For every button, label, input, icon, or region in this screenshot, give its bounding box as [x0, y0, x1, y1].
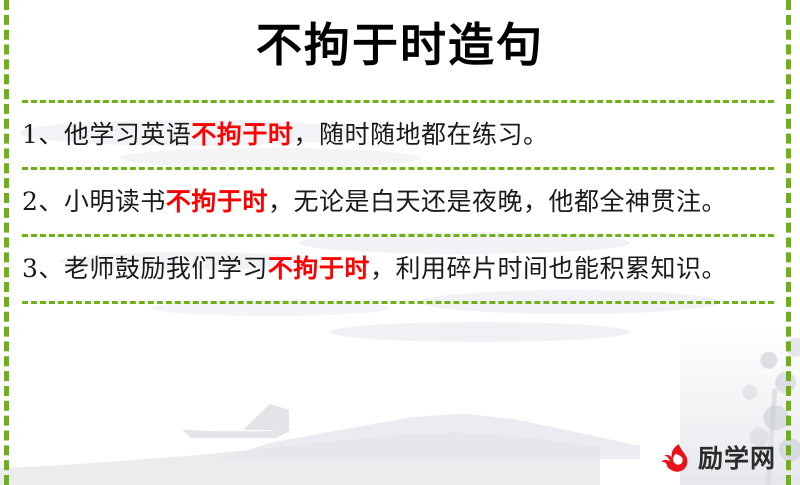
mountain-ridge-shape — [220, 405, 640, 459]
flame-swirl-icon — [657, 441, 691, 475]
sentence-index: 3、 — [22, 254, 64, 283]
keyword-highlight: 不拘于时 — [191, 120, 293, 149]
mountain-ridge-shape — [0, 405, 600, 485]
cloud-wash-shape — [330, 322, 630, 342]
list-item: 2、小明读书不拘于时，无论是白天还是夜晚，他都全神贯注。 — [22, 170, 774, 234]
sentence-before: 老师鼓励我们学习 — [64, 254, 268, 283]
sentence-index: 1、 — [22, 120, 64, 149]
keyword-highlight: 不拘于时 — [268, 254, 370, 283]
page-title: 不拘于时造句 — [0, 14, 800, 76]
frame-border-left — [4, 0, 9, 485]
brand-name: 励学网 — [698, 446, 776, 471]
sentence-after: ，利用碎片时间也能积累知识。 — [370, 254, 727, 283]
boat-silhouette-icon — [182, 424, 292, 438]
sentence-after: ，随时随地都在练习。 — [293, 120, 548, 149]
sentence-before: 小明读书 — [64, 187, 166, 216]
list-item: 1、他学习英语不拘于时，随时随地都在练习。 — [22, 103, 774, 167]
slide-canvas: 不拘于时造句 1、他学习英语不拘于时，随时随地都在练习。 2、小明读书不拘于时，… — [0, 0, 800, 485]
keyword-highlight: 不拘于时 — [166, 187, 268, 216]
brand-watermark[interactable]: 励学网 — [657, 441, 776, 475]
sentence-list: 1、他学习英语不拘于时，随时随地都在练习。 2、小明读书不拘于时，无论是白天还是… — [22, 100, 774, 304]
list-item: 3、老师鼓励我们学习不拘于时，利用碎片时间也能积累知识。 — [22, 237, 774, 301]
boat-sail-shape — [243, 404, 289, 430]
frame-border-right — [786, 0, 791, 485]
divider-bottom — [22, 301, 774, 304]
sentence-after: ，无论是白天还是夜晚，他都全神贯注。 — [268, 187, 727, 216]
sentence-before: 他学习英语 — [64, 120, 192, 149]
sentence-index: 2、 — [22, 187, 64, 216]
